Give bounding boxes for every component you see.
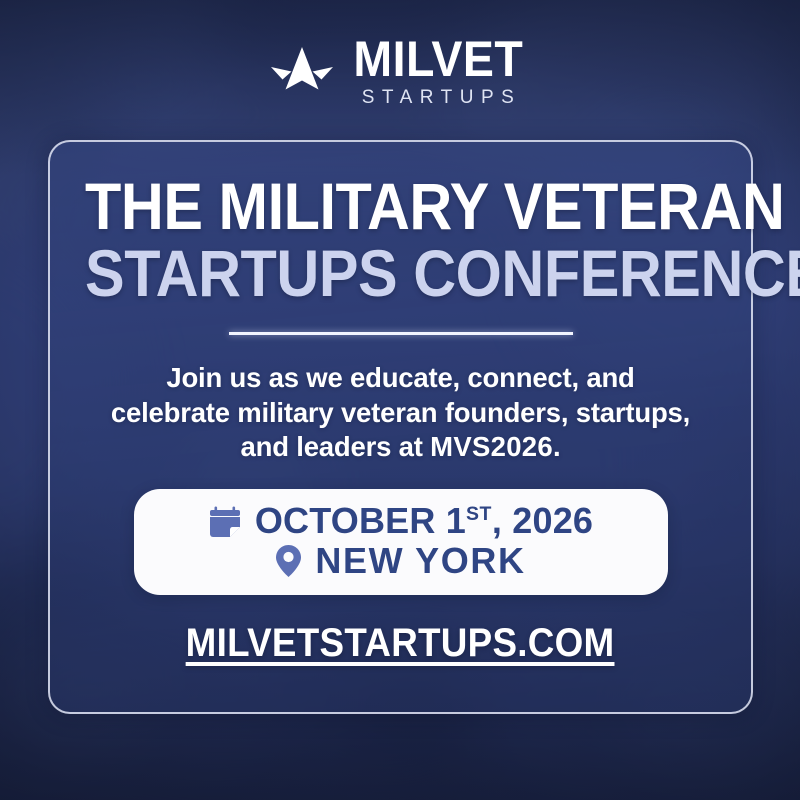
event-date-ordinal: ST [466, 503, 492, 525]
body-copy-emphasis: MVS2026 [430, 431, 553, 462]
event-location-row: NEW YORK [275, 542, 525, 580]
body-copy: Join us as we educate, connect, and cele… [105, 361, 697, 463]
map-pin-icon [275, 544, 302, 578]
brand-name: MILVET [353, 36, 523, 83]
event-date-row: OCTOBER 1ST, 2026 [208, 502, 593, 540]
star-arrow-icon [271, 45, 333, 103]
event-date-year: , 2026 [492, 500, 593, 541]
brand-logo: MILVET STARTUPS [0, 36, 800, 111]
event-city: NEW YORK [315, 542, 525, 580]
headline-line-1: THE MILITARY VETERAN [85, 176, 716, 237]
calendar-icon [208, 505, 242, 539]
headline-line-2: STARTUPS CONFERENCE [85, 243, 716, 304]
headline: THE MILITARY VETERAN STARTUPS CONFERENCE [50, 176, 751, 303]
body-copy-trail: . [553, 431, 560, 462]
event-date-monthday: OCTOBER 1 [255, 500, 466, 541]
brand-tagline: STARTUPS [355, 85, 522, 111]
event-date: OCTOBER 1ST, 2026 [255, 502, 593, 540]
website-url[interactable]: MILVETSTARTUPS.COM [186, 621, 615, 666]
body-copy-lead: Join us as we educate, connect, and cele… [111, 362, 690, 461]
event-details-panel: OCTOBER 1ST, 2026 NEW YORK [134, 489, 668, 595]
content-card: THE MILITARY VETERAN STARTUPS CONFERENCE… [48, 140, 753, 714]
promo-poster: MILVET STARTUPS THE MILITARY VETERAN STA… [0, 0, 800, 800]
divider-rule [229, 332, 573, 335]
